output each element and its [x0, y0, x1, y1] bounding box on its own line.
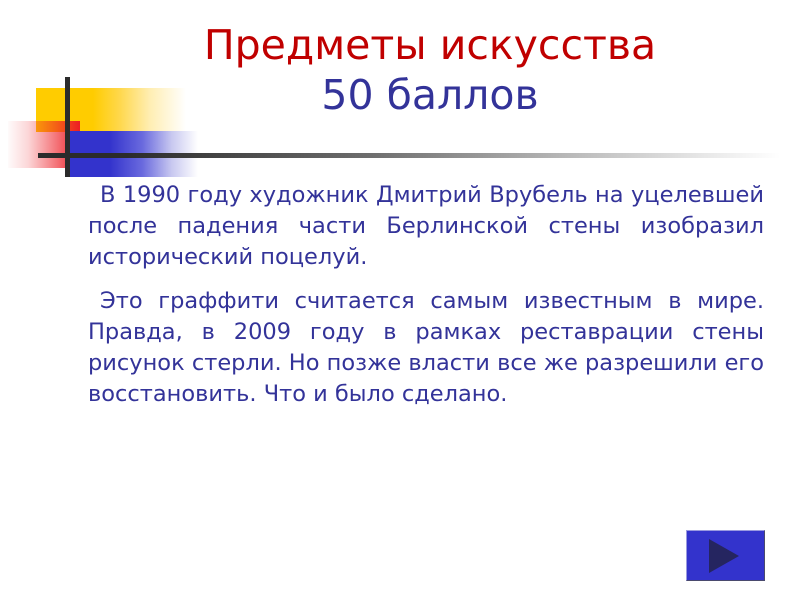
- body-paragraph-2: Это граффити считается самым известным в…: [88, 286, 764, 410]
- next-slide-button[interactable]: [686, 530, 765, 581]
- play-triangle-right-icon: [709, 539, 739, 573]
- slide-body: В 1990 году художник Дмитрий Врубель на …: [62, 180, 764, 410]
- page-subtitle: 50 баллов: [120, 75, 740, 117]
- horizontal-rule: [38, 153, 780, 158]
- slide-canvas: Предметы искусства 50 баллов В 1990 году…: [0, 0, 800, 600]
- page-title: Предметы искусства: [120, 25, 740, 67]
- vertical-rule: [65, 77, 70, 177]
- body-paragraph-1: В 1990 году художник Дмитрий Врубель на …: [88, 180, 764, 273]
- slide-title-block: Предметы искусства 50 баллов: [120, 25, 740, 117]
